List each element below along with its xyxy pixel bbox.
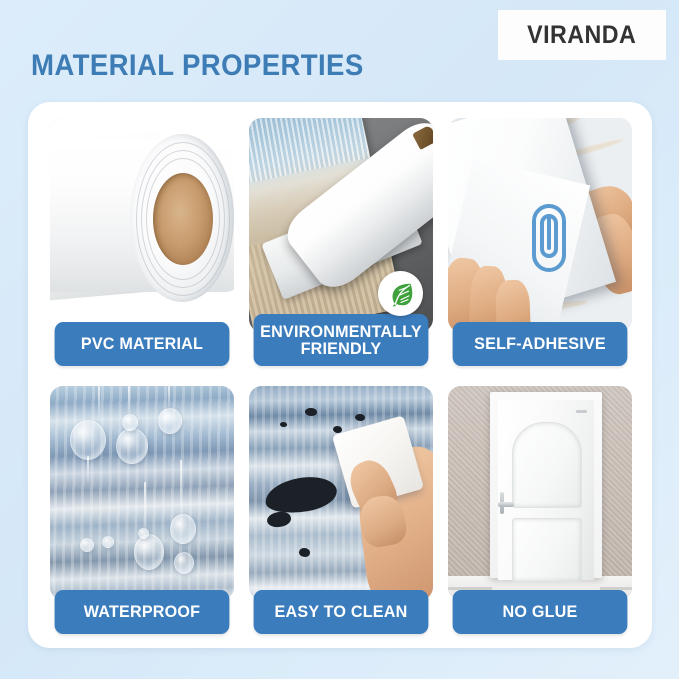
door-handle bbox=[498, 502, 514, 507]
feature-label-line: FRIENDLY bbox=[260, 340, 422, 357]
feature-image-no-glue bbox=[448, 386, 632, 600]
feature-label-line: SELF-ADHESIVE bbox=[474, 335, 606, 353]
feature-card-waterproof[interactable]: WATERPROOF bbox=[50, 386, 234, 634]
stain-mark bbox=[280, 422, 287, 427]
feature-label-no-glue: NO GLUE bbox=[453, 590, 628, 634]
feature-card-no-glue[interactable]: NO GLUE bbox=[448, 386, 632, 634]
infographic-page: VIRANDA MATERIAL PROPERTIES PVC MA bbox=[0, 0, 679, 679]
features-panel: PVC MATERIAL bbox=[28, 102, 652, 648]
stain-mark bbox=[305, 408, 317, 416]
water-drop bbox=[134, 534, 164, 570]
feature-label-line: PVC MATERIAL bbox=[81, 335, 203, 353]
water-drop bbox=[102, 536, 114, 548]
water-drop bbox=[70, 420, 106, 460]
feature-image-easy-to-clean bbox=[249, 386, 433, 600]
feature-image-pvc-material bbox=[50, 118, 234, 332]
feature-image-waterproof bbox=[50, 386, 234, 600]
features-grid: PVC MATERIAL bbox=[50, 118, 632, 634]
feature-card-environmentally-friendly[interactable]: ENVIRONMENTALLY FRIENDLY bbox=[249, 118, 433, 366]
feature-label-line: ENVIRONMENTALLY bbox=[260, 323, 422, 340]
water-drop bbox=[170, 514, 196, 544]
water-drop bbox=[80, 538, 94, 552]
feature-card-easy-to-clean[interactable]: EASY TO CLEAN bbox=[249, 386, 433, 634]
feature-label-environmentally-friendly: ENVIRONMENTALLY FRIENDLY bbox=[254, 314, 429, 366]
water-drop bbox=[116, 428, 148, 464]
leaf-icon bbox=[378, 271, 423, 316]
feature-label-line: NO GLUE bbox=[503, 603, 578, 621]
water-drop bbox=[138, 528, 149, 539]
feature-label-pvc-material: PVC MATERIAL bbox=[55, 322, 230, 366]
brand-logo-text: VIRANDA bbox=[527, 21, 636, 50]
water-drop bbox=[158, 408, 182, 434]
feature-image-self-adhesive bbox=[448, 118, 632, 332]
feature-label-waterproof: WATERPROOF bbox=[55, 590, 230, 634]
feature-card-self-adhesive[interactable]: SELF-ADHESIVE bbox=[448, 118, 632, 366]
feature-label-self-adhesive: SELF-ADHESIVE bbox=[453, 322, 628, 366]
paperclip-icon bbox=[526, 200, 572, 281]
feature-label-easy-to-clean: EASY TO CLEAN bbox=[254, 590, 429, 634]
feature-card-pvc-material[interactable]: PVC MATERIAL bbox=[50, 118, 234, 366]
water-drop bbox=[122, 414, 138, 431]
feature-label-line: EASY TO CLEAN bbox=[275, 603, 408, 621]
brand-logo: VIRANDA bbox=[498, 10, 666, 60]
stain-mark bbox=[355, 414, 365, 421]
page-title: MATERIAL PROPERTIES bbox=[31, 49, 364, 83]
stain-mark bbox=[299, 548, 310, 557]
feature-image-environmentally-friendly bbox=[249, 118, 433, 332]
water-drop bbox=[174, 552, 194, 574]
feature-label-line: WATERPROOF bbox=[84, 603, 200, 621]
